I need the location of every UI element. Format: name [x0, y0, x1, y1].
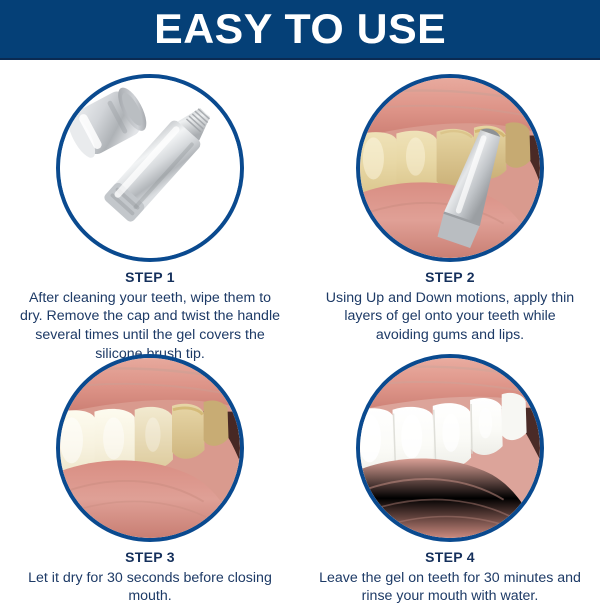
gel-pen-icon [60, 78, 240, 258]
step-card-1: STEP 1 After cleaning your teeth, wipe t… [0, 62, 300, 342]
teeth-fully-whitened-photo-icon [360, 358, 540, 538]
steps-grid: STEP 1 After cleaning your teeth, wipe t… [0, 62, 600, 600]
step-card-3: STEP 3 Let it dry for 30 seconds before … [0, 342, 300, 600]
applying-gel-photo-icon [360, 78, 540, 258]
step-2-label: STEP 2 [312, 269, 588, 287]
step-4-description: Leave the gel on teeth for 30 minutes an… [312, 569, 588, 606]
step-2-caption: STEP 2 Using Up and Down motions, apply … [312, 269, 588, 345]
step-4-label: STEP 4 [312, 549, 588, 567]
step-4-caption: STEP 4 Leave the gel on teeth for 30 min… [312, 549, 588, 606]
step-3-label: STEP 3 [12, 549, 288, 567]
step-card-4: STEP 4 Leave the gel on teeth for 30 min… [300, 342, 600, 600]
step-1-photo [56, 74, 244, 262]
easy-to-use-infographic: EASY TO USE [0, 0, 600, 600]
step-1-label: STEP 1 [12, 269, 288, 287]
step-2-description: Using Up and Down motions, apply thin la… [312, 289, 588, 346]
page-title: EASY TO USE [154, 8, 446, 50]
step-3-photo [56, 354, 244, 542]
teeth-partially-whitened-photo-icon [60, 358, 240, 538]
step-3-caption: STEP 3 Let it dry for 30 seconds before … [12, 549, 288, 606]
step-card-2: STEP 2 Using Up and Down motions, apply … [300, 62, 600, 342]
step-3-description: Let it dry for 30 seconds before closing… [12, 569, 288, 606]
header-banner: EASY TO USE [0, 0, 600, 60]
step-2-photo [356, 74, 544, 262]
step-4-photo [356, 354, 544, 542]
